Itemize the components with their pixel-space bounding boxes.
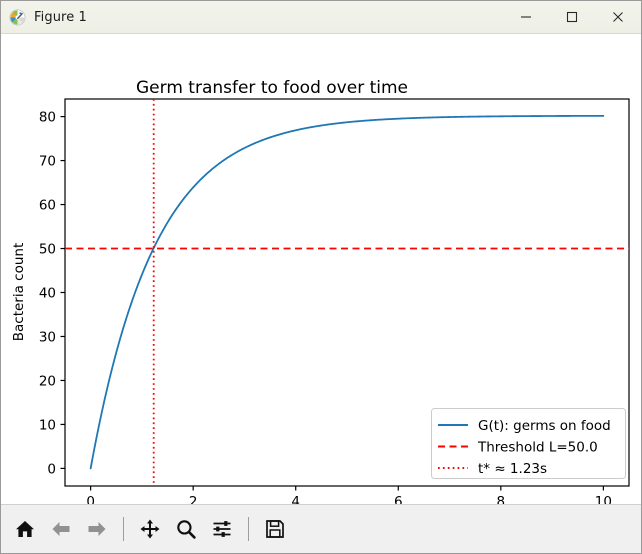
matplotlib-logo-icon — [9, 9, 26, 26]
sliders-icon — [211, 518, 233, 540]
chart-title: Germ transfer to food over time — [136, 78, 408, 98]
toolbar-separator-2 — [248, 517, 249, 541]
pan-button[interactable] — [134, 513, 166, 545]
magnifier-icon — [175, 518, 197, 540]
y-tick-label: 30 — [39, 329, 56, 345]
chart-legend: G(t): germs on foodThreshold L=50.0t* ≈ … — [432, 409, 626, 479]
y-tick-label: 50 — [39, 242, 56, 258]
window-title: Figure 1 — [34, 10, 87, 25]
zoom-button[interactable] — [170, 513, 202, 545]
forward-button[interactable] — [81, 513, 113, 545]
home-icon — [14, 518, 36, 540]
left-arrow-icon — [50, 518, 72, 540]
y-tick-label: 70 — [39, 154, 56, 170]
y-tick-label: 60 — [39, 198, 56, 214]
y-tick-label: 10 — [39, 417, 56, 433]
x-tick-label: 10 — [595, 494, 612, 504]
x-tick-label: 6 — [394, 494, 403, 504]
figure-canvas[interactable]: Germ transfer to food over time 0246810 … — [1, 34, 641, 504]
move-arrows-icon — [139, 518, 161, 540]
y-axis-label: Bacteria count — [11, 243, 27, 342]
y-tick-label: 0 — [47, 461, 56, 477]
plot-area[interactable]: Germ transfer to food over time 0246810 … — [1, 34, 641, 504]
y-tick-label: 40 — [39, 286, 56, 302]
legend-label: t* ≈ 1.23s — [478, 461, 547, 477]
legend-label: G(t): germs on food — [478, 418, 611, 434]
home-button[interactable] — [9, 513, 41, 545]
x-tick-label: 0 — [86, 494, 95, 504]
right-arrow-icon — [86, 518, 108, 540]
toolbar-separator-1 — [123, 517, 124, 541]
y-tick-label: 20 — [39, 373, 56, 389]
save-button[interactable] — [259, 513, 291, 545]
y-tick-label: 80 — [39, 110, 56, 126]
x-axis-ticks: 0246810 — [86, 486, 612, 504]
x-tick-label: 8 — [497, 494, 506, 504]
maximize-icon[interactable] — [549, 1, 595, 33]
navigation-toolbar[interactable] — [1, 504, 641, 553]
minimize-icon[interactable] — [503, 1, 549, 33]
configure-subplots-button[interactable] — [206, 513, 238, 545]
window-controls — [503, 1, 641, 33]
floppy-disk-icon — [264, 518, 286, 540]
y-axis-ticks: 01020304050607080 — [39, 110, 65, 478]
x-tick-label: 2 — [189, 494, 198, 504]
legend-label: Threshold L=50.0 — [477, 440, 598, 456]
figure-window: Figure 1 Germ transf — [0, 0, 642, 554]
window-title-bar[interactable]: Figure 1 — [1, 1, 641, 34]
close-icon[interactable] — [595, 1, 641, 33]
x-tick-label: 4 — [291, 494, 300, 504]
back-button[interactable] — [45, 513, 77, 545]
